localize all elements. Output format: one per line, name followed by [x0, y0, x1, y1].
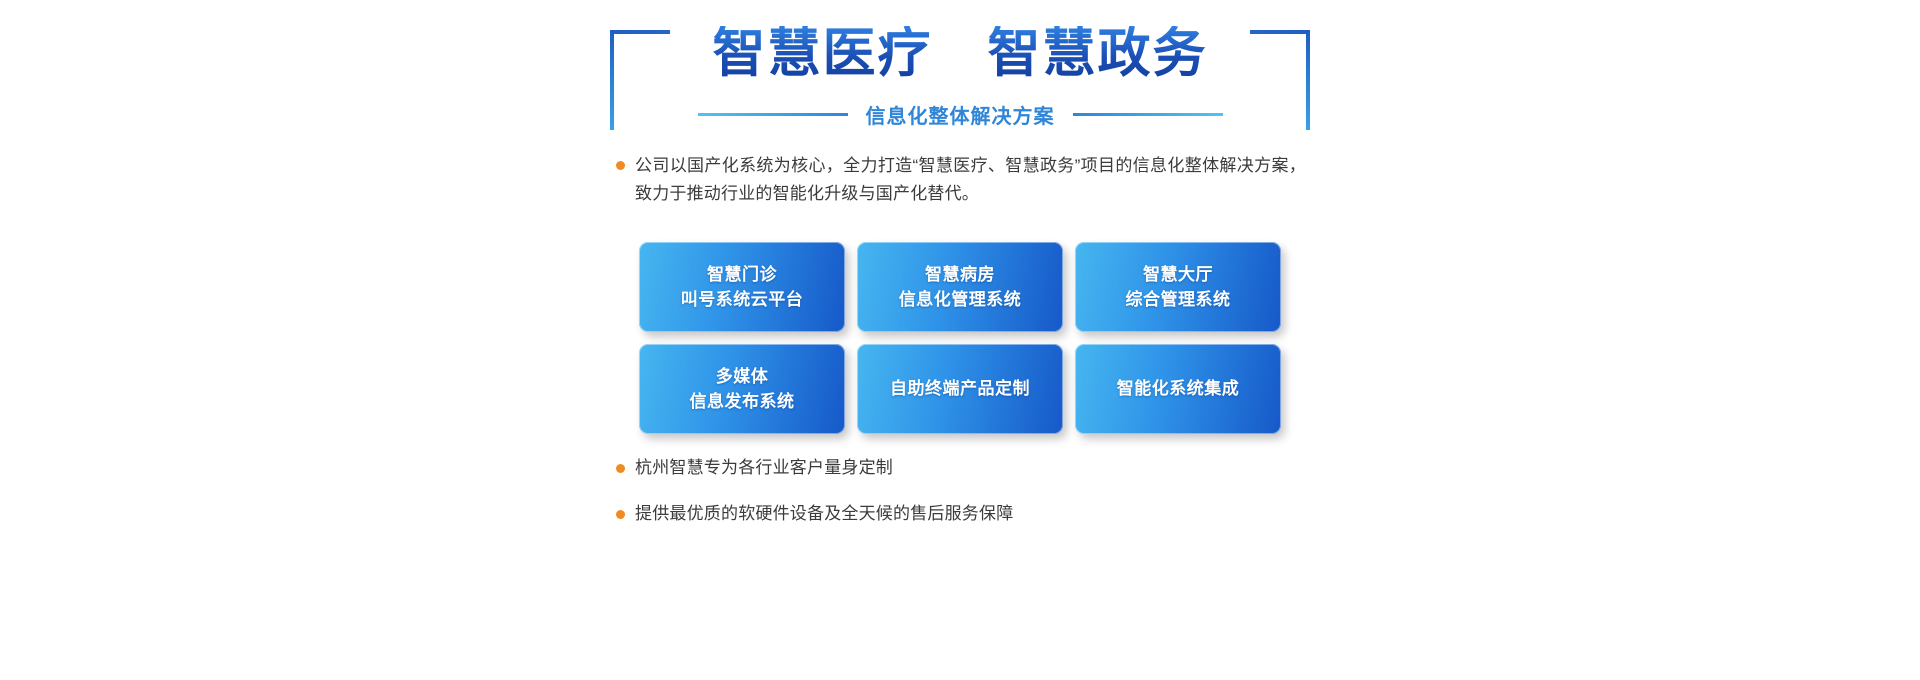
- solution-card-label: 智能化系统集成: [1117, 376, 1240, 402]
- solution-card[interactable]: 智慧大厅 综合管理系统: [1075, 242, 1281, 332]
- subtitle-row: 信息化整体解决方案: [610, 100, 1310, 129]
- solution-card[interactable]: 智慧门诊 叫号系统云平台: [639, 242, 845, 332]
- subtitle-rule-right-icon: [1073, 113, 1223, 116]
- page-title: 智慧医疗 智慧政务: [610, 26, 1310, 82]
- bullet-dot-icon: [616, 161, 625, 170]
- solution-card[interactable]: 自助终端产品定制: [857, 344, 1063, 434]
- solution-card-label: 智慧病房 信息化管理系统: [899, 262, 1022, 313]
- solution-card-label: 自助终端产品定制: [890, 376, 1030, 402]
- page-subtitle: 信息化整体解决方案: [862, 100, 1059, 129]
- bullet-item-text: 杭州智慧专为各行业客户量身定制: [635, 456, 893, 480]
- header-block: 智慧医疗 智慧政务 信息化整体解决方案: [610, 0, 1310, 140]
- solution-card[interactable]: 智能化系统集成: [1075, 344, 1281, 434]
- solution-card[interactable]: 多媒体 信息发布系统: [639, 344, 845, 434]
- intro-paragraph: 公司以国产化系统为核心，全力打造“智慧医疗、智慧政务”项目的信息化整体解决方案，…: [616, 152, 1306, 208]
- bullet-dot-icon: [616, 464, 625, 473]
- content-column: 智慧医疗 智慧政务 信息化整体解决方案 公司以国产化系统为核心，全力打造“智慧医…: [610, 0, 1310, 680]
- list-item: 提供最优质的软硬件设备及全天候的售后服务保障: [616, 502, 1306, 526]
- intro-paragraph-text: 公司以国产化系统为核心，全力打造“智慧医疗、智慧政务”项目的信息化整体解决方案，…: [635, 152, 1306, 208]
- solution-card-grid: 智慧门诊 叫号系统云平台 智慧病房 信息化管理系统 智慧大厅 综合管理系统 多媒…: [610, 242, 1310, 434]
- solution-card-label: 多媒体 信息发布系统: [690, 364, 795, 415]
- page-root: 智慧医疗 智慧政务 信息化整体解决方案 公司以国产化系统为核心，全力打造“智慧医…: [0, 0, 1920, 680]
- solution-card[interactable]: 智慧病房 信息化管理系统: [857, 242, 1063, 332]
- list-item: 杭州智慧专为各行业客户量身定制: [616, 456, 1306, 480]
- bullet-item-text: 提供最优质的软硬件设备及全天候的售后服务保障: [635, 502, 1013, 526]
- solution-card-label: 智慧门诊 叫号系统云平台: [681, 262, 804, 313]
- bullet-list: 杭州智慧专为各行业客户量身定制 提供最优质的软硬件设备及全天候的售后服务保障: [616, 456, 1306, 548]
- subtitle-rule-left-icon: [698, 113, 848, 116]
- bullet-dot-icon: [616, 510, 625, 519]
- solution-card-label: 智慧大厅 综合管理系统: [1126, 262, 1231, 313]
